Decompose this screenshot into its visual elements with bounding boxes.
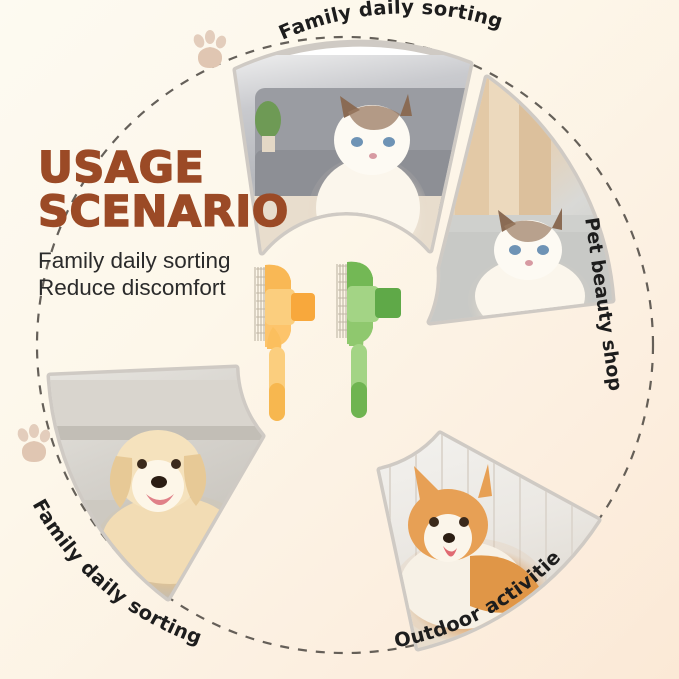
label-top: Family daily sorting bbox=[275, 0, 505, 44]
brush-pins-orange bbox=[255, 267, 264, 341]
product-brush-orange bbox=[249, 255, 327, 430]
photo-panel-bottom bbox=[360, 420, 610, 660]
paw-print-icon bbox=[186, 26, 234, 74]
product-brush-green bbox=[331, 252, 413, 427]
paw-print-icon bbox=[10, 420, 58, 468]
infographic-canvas: Family daily sorting Outdoor activities … bbox=[0, 0, 679, 679]
brush-pins-green bbox=[337, 264, 346, 338]
page-title-line-2: SCENARIO bbox=[38, 190, 298, 234]
page-title-line-1: USAGE bbox=[38, 146, 298, 190]
